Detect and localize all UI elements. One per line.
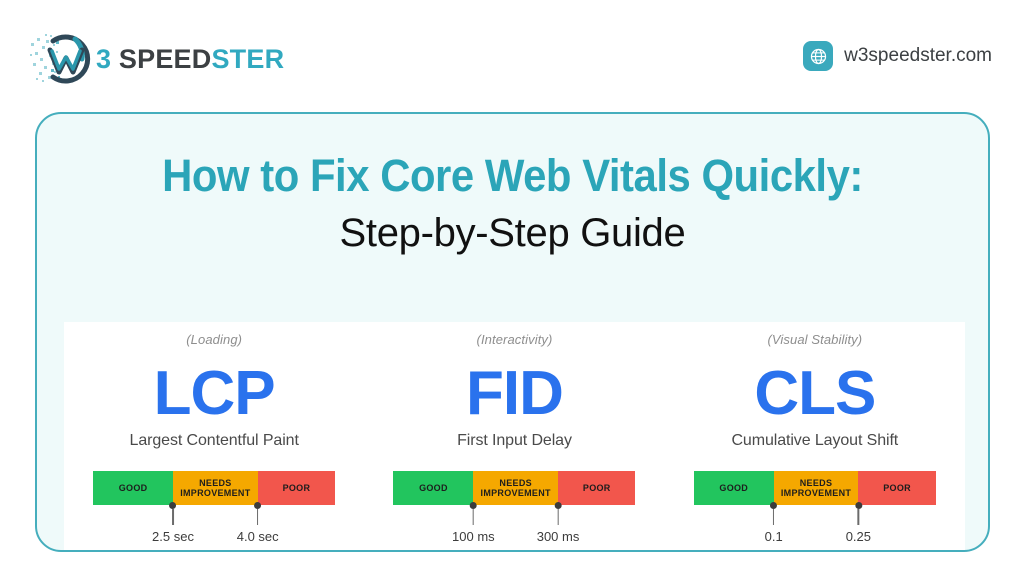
metric-fullname-label: Largest Contentful Paint	[64, 432, 364, 450]
segment-poor: POOR	[558, 471, 635, 505]
tick-label: 2.5 sec	[152, 529, 194, 544]
metric-fullname-label: First Input Delay	[364, 432, 664, 450]
metric-category-label: (Visual Stability)	[665, 332, 965, 347]
metric-category-label: (Loading)	[64, 332, 364, 347]
brand-logo[interactable]: 3 SPEEDSTER	[28, 28, 284, 90]
metric-category-label: (Interactivity)	[364, 332, 664, 347]
tick-dot-icon	[555, 502, 562, 509]
threshold-tick: 100 ms	[452, 505, 495, 544]
tick-line	[773, 509, 775, 525]
tick-dot-icon	[170, 502, 177, 509]
metric-acronym-label: LCP	[64, 361, 364, 428]
threshold-bar-area: GOOD NEEDS IMPROVEMENT POOR 2.5 sec 4.0 …	[64, 471, 364, 547]
logo-text-ster: STER	[211, 44, 284, 74]
segment-good: GOOD	[93, 471, 173, 505]
tick-dot-icon	[770, 502, 777, 509]
threshold-bar: GOOD NEEDS IMPROVEMENT POOR	[93, 471, 335, 505]
threshold-tick: 0.1	[765, 505, 783, 544]
content-panel: How to Fix Core Web Vitals Quickly: Step…	[35, 112, 990, 552]
page-subtitle: Step-by-Step Guide	[37, 212, 988, 254]
threshold-ticks: 2.5 sec 4.0 sec	[93, 505, 335, 547]
tick-line	[172, 509, 174, 525]
w3speedster-circular-w-logo	[28, 29, 100, 89]
segment-needs-improvement: NEEDS IMPROVEMENT	[774, 471, 859, 505]
segment-poor: POOR	[858, 471, 935, 505]
segment-good: GOOD	[393, 471, 473, 505]
tick-line	[858, 509, 860, 525]
tick-label: 0.1	[765, 529, 783, 544]
brand-logo-text: 3 SPEEDSTER	[96, 44, 284, 75]
threshold-tick: 2.5 sec	[152, 505, 194, 544]
threshold-bar-area: GOOD NEEDS IMPROVEMENT POOR 0.1 0.25	[665, 471, 965, 547]
metric-acronym-label: FID	[364, 361, 664, 428]
metric-acronym-label: CLS	[665, 361, 965, 428]
tick-dot-icon	[470, 502, 477, 509]
site-url-block[interactable]: w3speedster.com	[803, 41, 992, 71]
page-title: How to Fix Core Web Vitals Quickly:	[70, 152, 954, 200]
page-header: 3 SPEEDSTER w3speedster.com	[0, 0, 1024, 112]
tick-dot-icon	[254, 502, 261, 509]
threshold-bar: GOOD NEEDS IMPROVEMENT POOR	[694, 471, 936, 505]
threshold-ticks: 0.1 0.25	[694, 505, 936, 547]
segment-poor: POOR	[258, 471, 335, 505]
tick-label: 4.0 sec	[237, 529, 279, 544]
segment-good: GOOD	[694, 471, 774, 505]
tick-label: 300 ms	[537, 529, 580, 544]
site-url-text: w3speedster.com	[844, 45, 992, 67]
segment-needs-improvement: NEEDS IMPROVEMENT	[473, 471, 558, 505]
tick-line	[557, 509, 559, 525]
threshold-tick: 300 ms	[537, 505, 580, 544]
core-web-vitals-card: (Loading) LCP Largest Contentful Paint G…	[64, 322, 965, 552]
logo-text-speed: SPEED	[119, 44, 212, 74]
threshold-bar-area: GOOD NEEDS IMPROVEMENT POOR 100 ms 300 m…	[364, 471, 664, 547]
tick-dot-icon	[855, 502, 862, 509]
metric-fid: (Interactivity) FID First Input Delay GO…	[364, 322, 664, 552]
tick-line	[473, 509, 475, 525]
metric-cls: (Visual Stability) CLS Cumulative Layout…	[665, 322, 965, 552]
metric-lcp: (Loading) LCP Largest Contentful Paint G…	[64, 322, 364, 552]
threshold-bar: GOOD NEEDS IMPROVEMENT POOR	[393, 471, 635, 505]
globe-icon	[803, 41, 833, 71]
threshold-ticks: 100 ms 300 ms	[393, 505, 635, 547]
tick-label: 100 ms	[452, 529, 495, 544]
metric-fullname-label: Cumulative Layout Shift	[665, 432, 965, 450]
tick-label: 0.25	[846, 529, 871, 544]
title-block: How to Fix Core Web Vitals Quickly: Step…	[37, 152, 988, 254]
threshold-tick: 4.0 sec	[237, 505, 279, 544]
threshold-tick: 0.25	[846, 505, 871, 544]
tick-line	[257, 509, 259, 525]
segment-needs-improvement: NEEDS IMPROVEMENT	[173, 471, 258, 505]
